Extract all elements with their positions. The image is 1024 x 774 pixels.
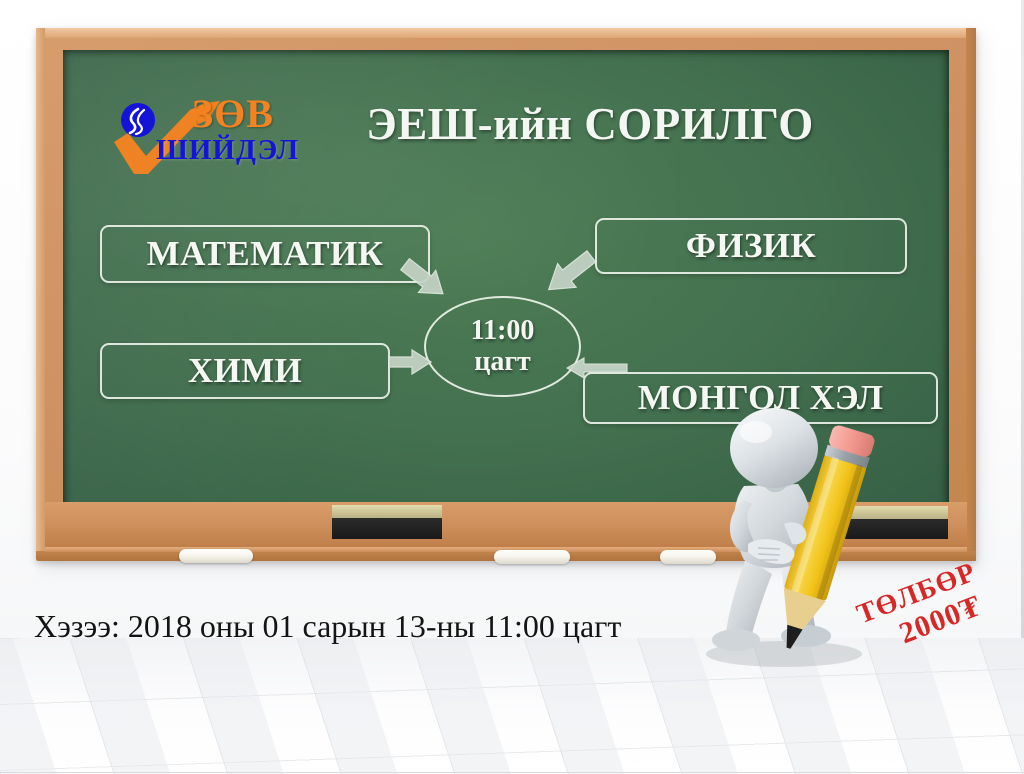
chalk-stick[interactable]	[179, 549, 253, 563]
subject-box-chemistry[interactable]: ХИМИ	[100, 343, 390, 399]
frame-left-bevel	[36, 28, 45, 561]
logo-word-bottom: ШИЙДЭЛ	[156, 134, 299, 167]
arrow-mongol-to-center-icon	[566, 357, 628, 379]
subject-box-mathematics[interactable]: МАТЕМАТИК	[100, 225, 430, 283]
center-time-value: 11:00	[471, 316, 535, 346]
poster-root: ЗӨВ ШИЙДЭЛ ЭЕШ-ийн СОРИЛГО МАТЕМАТИК ХИМ…	[0, 0, 1024, 774]
frame-top-bevel	[36, 28, 976, 38]
zov-shiidel-logo: ЗӨВ ШИЙДЭЛ	[108, 92, 313, 180]
frame-right-bevel	[966, 28, 976, 561]
arrow-math-to-center-icon	[398, 256, 450, 302]
eraser-felt	[332, 518, 442, 539]
board-eraser[interactable]	[332, 505, 442, 539]
chalk-stick[interactable]	[494, 550, 570, 564]
logo-word-top: ЗӨВ	[192, 90, 274, 137]
subject-box-physics[interactable]: ФИЗИК	[595, 218, 907, 274]
arrow-chem-to-center-icon	[388, 348, 432, 376]
page-title: ЭЕШ-ийн СОРИЛГО	[330, 98, 850, 150]
event-date-caption: Хэзээ: 2018 оны 01 сарын 13-ны 11:00 цаг…	[34, 608, 621, 645]
eraser-top	[332, 505, 442, 518]
center-time-unit: цагт	[474, 347, 531, 377]
arrow-physics-to-center-icon	[541, 248, 599, 298]
floor-bottom-line	[0, 772, 1024, 773]
center-time-oval: 11:00 цагт	[424, 296, 581, 397]
